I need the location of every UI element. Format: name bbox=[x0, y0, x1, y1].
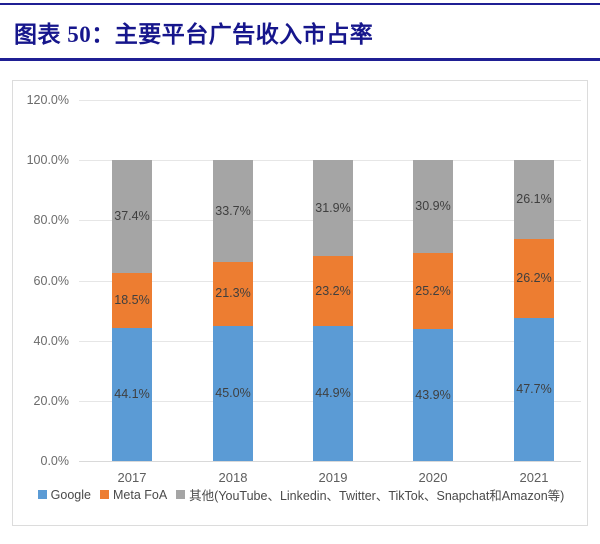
bar-value-label: 25.2% bbox=[415, 285, 450, 298]
figure-root: 图表 50：主要平台广告收入市占率 0.0%20.0%40.0%60.0%80.… bbox=[0, 0, 600, 544]
bar-value-label: 44.9% bbox=[315, 387, 350, 400]
bar-value-label: 33.7% bbox=[215, 205, 250, 218]
bar-value-label: 45.0% bbox=[215, 387, 250, 400]
y-axis-tick-label: 60.0% bbox=[34, 274, 69, 288]
y-axis-tick-label: 40.0% bbox=[34, 334, 69, 348]
bar-value-label: 37.4% bbox=[114, 210, 149, 223]
x-axis-line bbox=[79, 461, 581, 462]
x-axis-tick-label: 2021 bbox=[489, 470, 579, 485]
y-axis: 0.0%20.0%40.0%60.0%80.0%100.0%120.0% bbox=[13, 81, 75, 527]
plot-area: 37.4%18.5%44.1%201733.7%21.3%45.0%201831… bbox=[79, 81, 581, 527]
bar-segment[interactable]: 33.7% bbox=[213, 160, 253, 261]
bar-segment[interactable]: 44.1% bbox=[112, 328, 152, 461]
legend-swatch-icon bbox=[176, 490, 185, 499]
bar-segment[interactable]: 23.2% bbox=[313, 256, 353, 326]
bar-segment[interactable]: 37.4% bbox=[112, 160, 152, 273]
bar-value-label: 30.9% bbox=[415, 200, 450, 213]
y-axis-tick-label: 120.0% bbox=[27, 93, 69, 107]
x-axis-tick-label: 2017 bbox=[87, 470, 177, 485]
bar-value-label: 26.1% bbox=[516, 193, 551, 206]
bar-segment[interactable]: 21.3% bbox=[213, 262, 253, 326]
bar-segment[interactable]: 44.9% bbox=[313, 326, 353, 461]
bar-segment[interactable]: 43.9% bbox=[413, 329, 453, 461]
x-axis-tick-label: 2020 bbox=[388, 470, 478, 485]
bar-value-label: 47.7% bbox=[516, 383, 551, 396]
chart-legend: GoogleMeta FoA其他(YouTube、Linkedin、Twitte… bbox=[13, 485, 589, 504]
legend-label: 其他(YouTube、Linkedin、Twitter、TikTok、Snapc… bbox=[189, 485, 564, 504]
bar-stack-2019[interactable]: 31.9%23.2%44.9% bbox=[313, 160, 353, 461]
bar-segment[interactable]: 25.2% bbox=[413, 253, 453, 329]
legend-label: Meta FoA bbox=[113, 488, 167, 502]
legend-item-0[interactable]: Google bbox=[38, 488, 91, 502]
bar-stack-2017[interactable]: 37.4%18.5%44.1% bbox=[112, 160, 152, 461]
legend-label: Google bbox=[51, 488, 91, 502]
x-axis-tick-label: 2018 bbox=[188, 470, 278, 485]
bar-segment[interactable]: 26.2% bbox=[514, 239, 554, 318]
x-axis-tick-label: 2019 bbox=[288, 470, 378, 485]
y-axis-tick-label: 100.0% bbox=[27, 153, 69, 167]
bar-stack-2018[interactable]: 33.7%21.3%45.0% bbox=[213, 160, 253, 461]
figure-title-bar: 图表 50：主要平台广告收入市占率 bbox=[0, 3, 600, 61]
bar-segment[interactable]: 26.1% bbox=[514, 160, 554, 239]
gridline bbox=[79, 100, 581, 101]
bar-value-label: 44.1% bbox=[114, 388, 149, 401]
bar-value-label: 26.2% bbox=[516, 272, 551, 285]
chart-plot-wrapper: 0.0%20.0%40.0%60.0%80.0%100.0%120.0% 37.… bbox=[13, 81, 589, 527]
bar-segment[interactable]: 47.7% bbox=[514, 318, 554, 461]
legend-item-2[interactable]: 其他(YouTube、Linkedin、Twitter、TikTok、Snapc… bbox=[176, 485, 564, 504]
y-axis-tick-label: 0.0% bbox=[41, 454, 70, 468]
bar-stack-2020[interactable]: 30.9%25.2%43.9% bbox=[413, 160, 453, 461]
bar-value-label: 43.9% bbox=[415, 389, 450, 402]
chart-card: 0.0%20.0%40.0%60.0%80.0%100.0%120.0% 37.… bbox=[12, 80, 588, 526]
bar-value-label: 18.5% bbox=[114, 294, 149, 307]
legend-item-1[interactable]: Meta FoA bbox=[100, 488, 167, 502]
legend-swatch-icon bbox=[38, 490, 47, 499]
bar-stack-2021[interactable]: 26.1%26.2%47.7% bbox=[514, 160, 554, 461]
bar-value-label: 31.9% bbox=[315, 202, 350, 215]
bar-value-label: 23.2% bbox=[315, 285, 350, 298]
bar-segment[interactable]: 45.0% bbox=[213, 326, 253, 461]
legend-swatch-icon bbox=[100, 490, 109, 499]
y-axis-tick-label: 80.0% bbox=[34, 213, 69, 227]
bar-segment[interactable]: 30.9% bbox=[413, 160, 453, 253]
page-title: 图表 50：主要平台广告收入市占率 bbox=[0, 15, 373, 49]
bar-segment[interactable]: 31.9% bbox=[313, 160, 353, 256]
bar-segment[interactable]: 18.5% bbox=[112, 273, 152, 329]
y-axis-tick-label: 20.0% bbox=[34, 394, 69, 408]
bar-value-label: 21.3% bbox=[215, 287, 250, 300]
